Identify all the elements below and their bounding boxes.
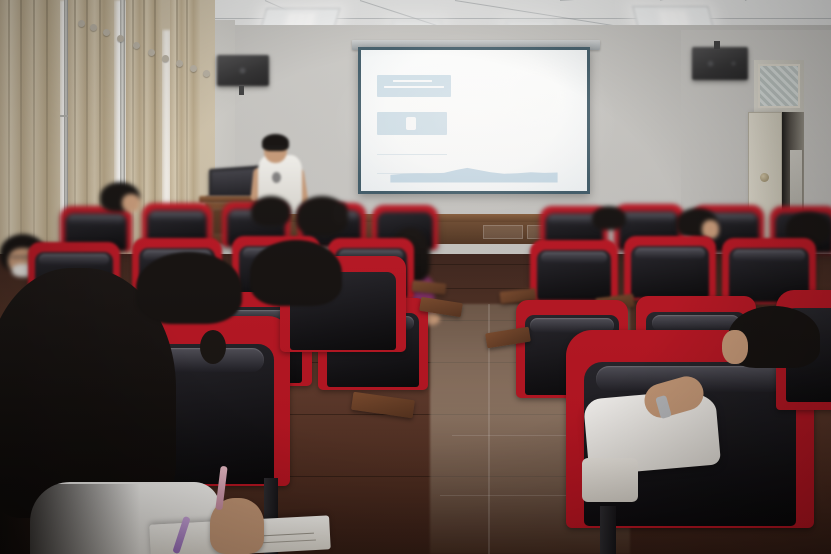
student-trousers (582, 458, 638, 502)
lecture-hall-photo (0, 0, 831, 554)
foreground-shadow (0, 484, 140, 554)
glasses-icon (265, 147, 285, 152)
slide-title-block (377, 75, 452, 96)
curtain-hook (103, 29, 110, 36)
earphone-icon (200, 330, 226, 364)
speaker-bracket (714, 41, 720, 49)
transom-window (758, 64, 800, 108)
curtain-hook (203, 70, 210, 77)
seat-leg (600, 506, 616, 554)
speaker-right (692, 47, 748, 80)
speaker-bracket (239, 86, 244, 95)
slide-rule (377, 154, 447, 155)
curtain-hook (176, 60, 183, 67)
curtain-hook (148, 49, 155, 56)
slide-area-chart (390, 164, 557, 182)
slide-image-block (377, 112, 447, 135)
curtain-hook (133, 42, 140, 49)
curtain-hook (117, 35, 124, 42)
curtain-hook (162, 55, 169, 62)
curtain-hook (90, 24, 97, 31)
door-knob-icon[interactable] (760, 173, 769, 182)
curtain-hook (78, 20, 85, 27)
speaker-left (217, 55, 269, 86)
shirt-graphic (272, 172, 281, 183)
curtain-hook (190, 65, 197, 72)
